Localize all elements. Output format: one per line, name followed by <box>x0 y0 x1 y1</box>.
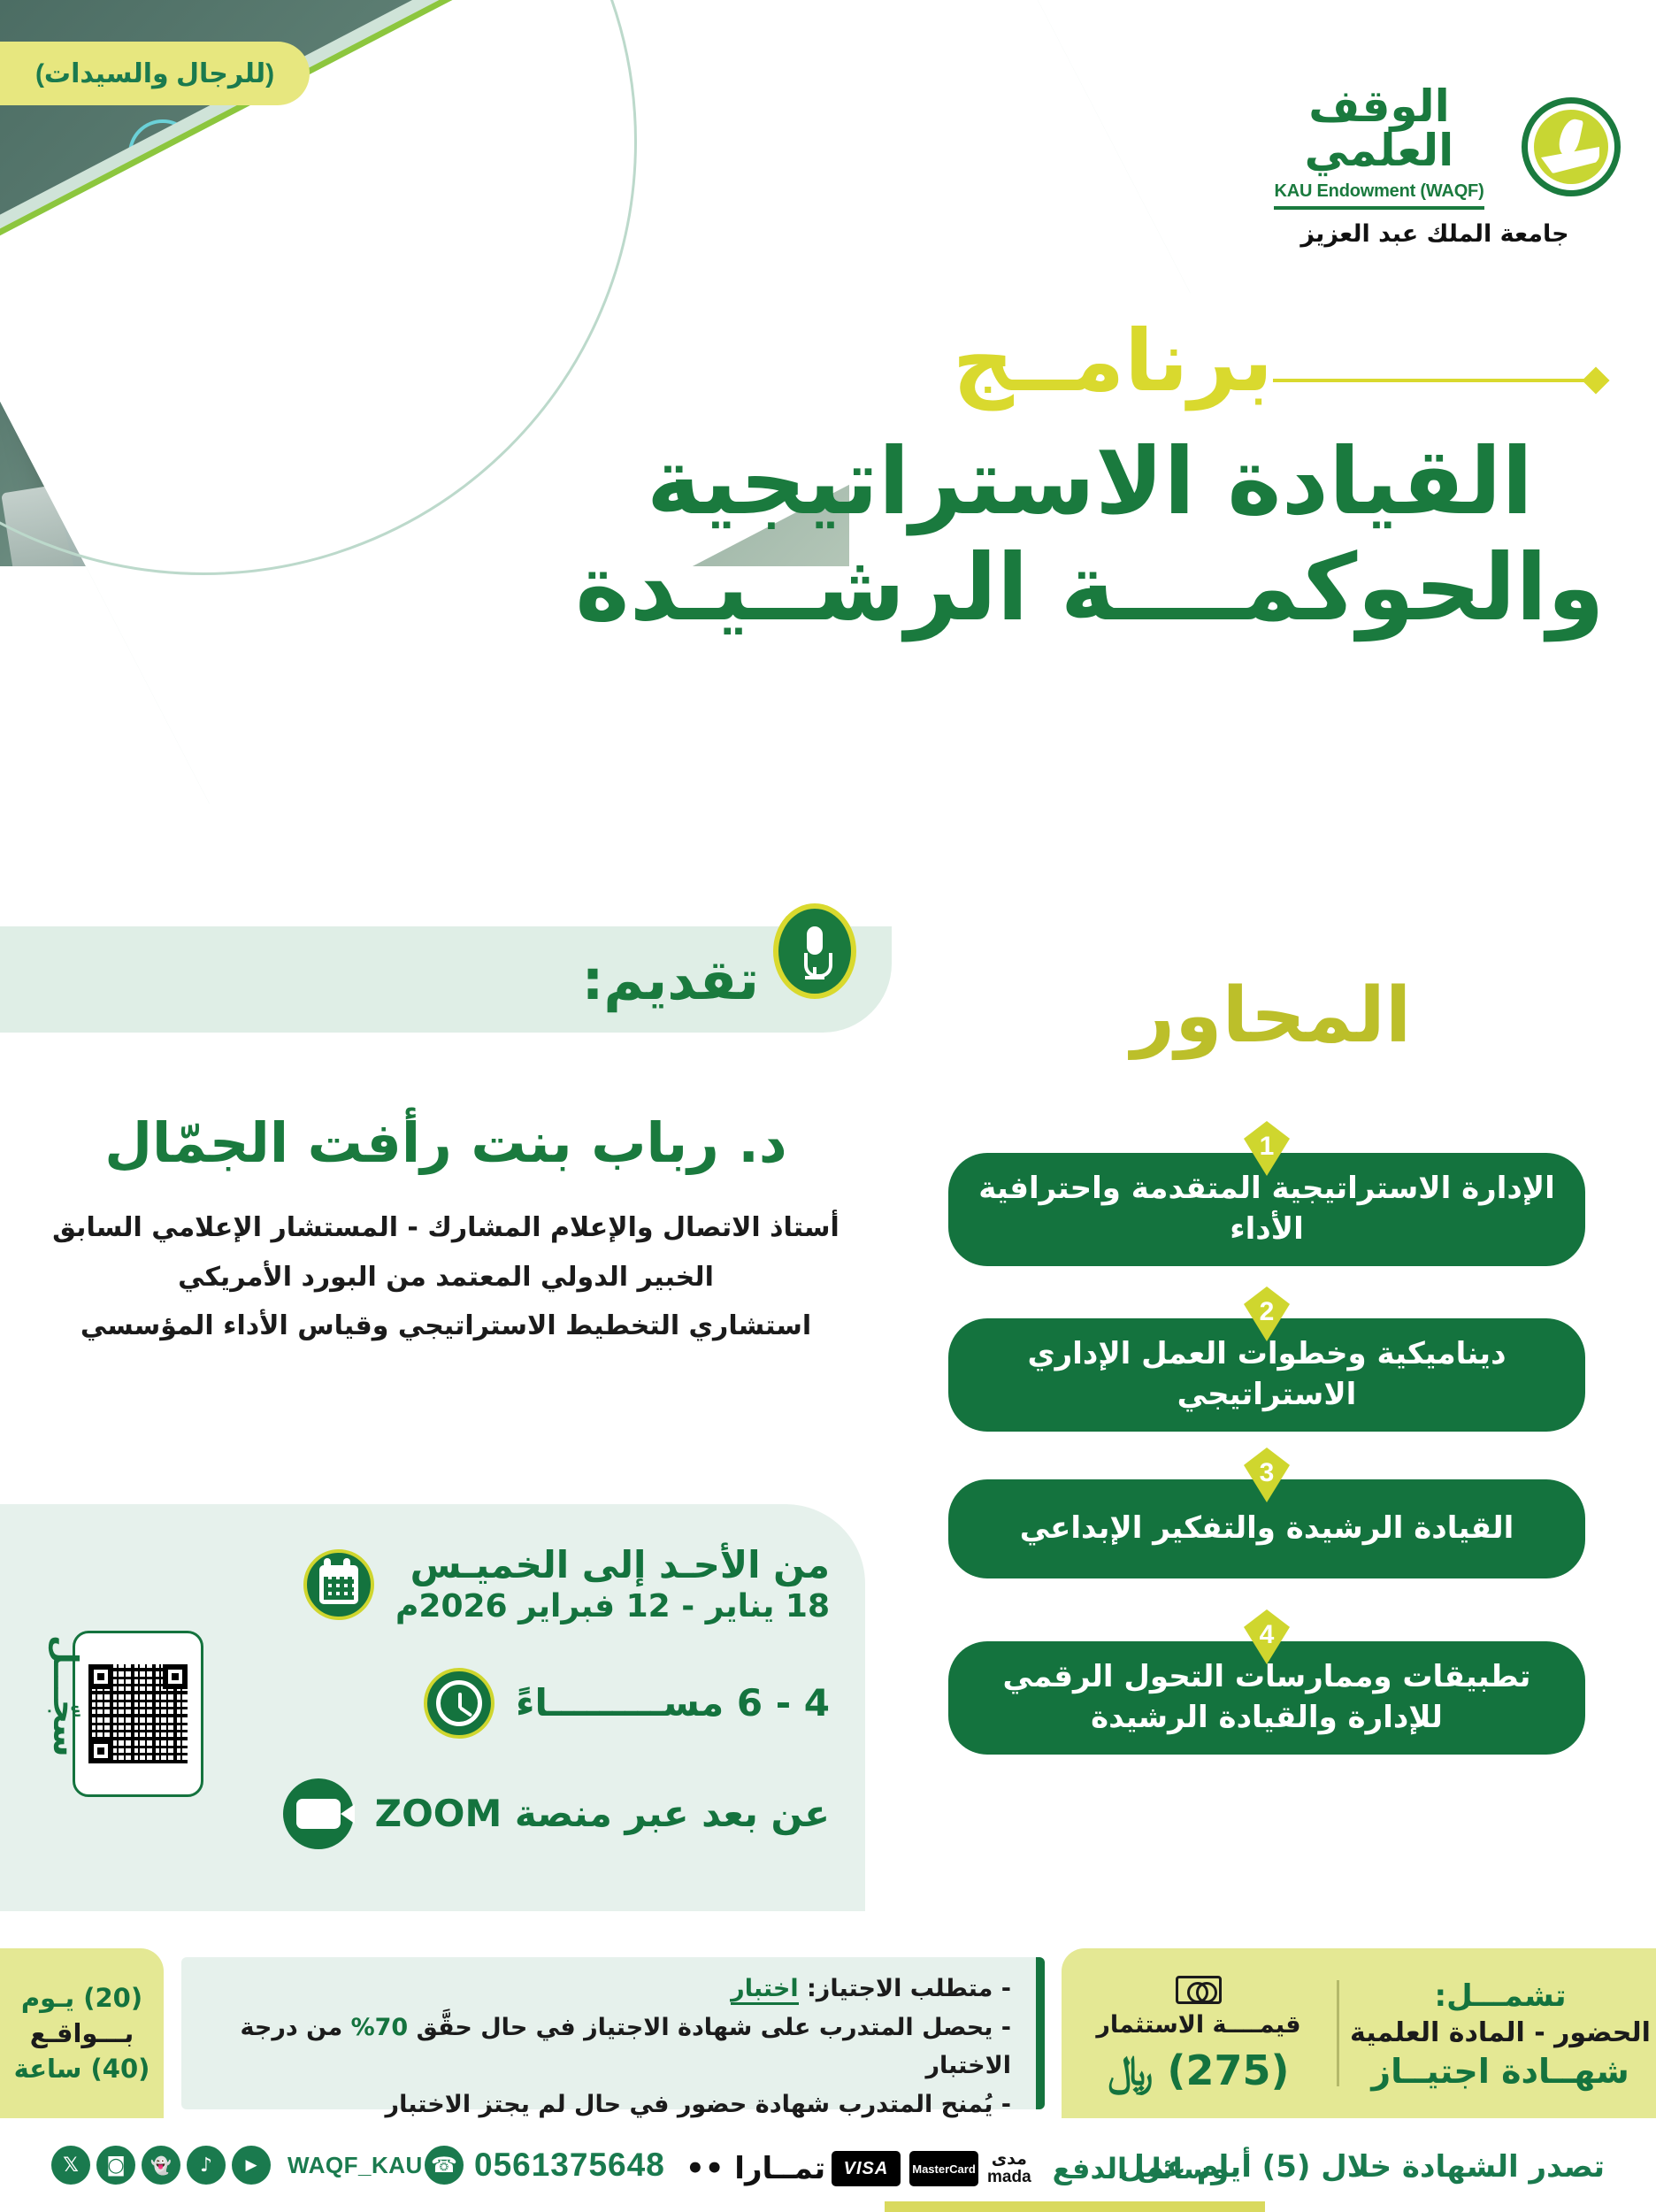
topic-number-badge-2: 2 <box>1244 1286 1290 1341</box>
event-time-text: 4 - 6 مســـــــــاءً <box>516 1681 830 1725</box>
includes-block: تشمـــل: الحضور - المادة العلمية شهــادة… <box>1345 1977 1656 2091</box>
investment-label: قيمــــة الاستثمار <box>1066 2009 1331 2040</box>
mada-arabic: مدى <box>987 2151 1031 2169</box>
visa-icon: VISA <box>832 2151 901 2186</box>
kau-waqf-logo: الوقف العلمي KAU Endowment (WAQF) جامعة … <box>1249 84 1621 248</box>
presenter-credential-1: أستاذ الاتصال والإعلام المشارك - المستشا… <box>0 1203 892 1253</box>
duration-connector: بـــواقـع <box>30 2018 134 2048</box>
exam-requirement-line-3: - يُمنح المتدرب شهادة حضور في حال لم يجت… <box>197 2085 1011 2124</box>
event-location-text: عن بعد عبر منصة ZOOM <box>375 1792 830 1836</box>
event-date-line-2: 18 يناير - 12 فبراير 2026م <box>395 1587 830 1626</box>
page-title-line-1: القيادة الاستراتيجية <box>559 429 1621 535</box>
includes-line: الحضور - المادة العلمية <box>1345 2017 1656 2048</box>
tiktok-glyph: ♪ <box>200 2154 212 2177</box>
mastercard-icon: MasterCard <box>909 2151 978 2186</box>
microphone-icon <box>773 903 856 999</box>
tiktok-icon[interactable]: ♪ <box>187 2146 226 2185</box>
page-title-line-2: والحوكمــــة الرشــيـدة <box>559 535 1621 641</box>
kicker-label: برنامــج <box>953 319 1273 403</box>
footer: 𝕏 ◙ 👻 ♪ ▶ WAQF_KAU ☎ 0561375648 <box>0 2128 1656 2212</box>
qr-register-label: سجّـــل <box>46 1635 85 1757</box>
tamara-logo: تمــارا •• <box>686 2151 825 2186</box>
video-camera-icon <box>283 1778 354 1849</box>
waqf-leaf-icon <box>1522 97 1621 196</box>
youtube-glyph: ▶ <box>245 2156 257 2174</box>
topic-card-4: 4 تطبيقات وممارسات التحول الرقمي للإدارة… <box>948 1641 1585 1755</box>
gender-badge: (للرجال والسيدات) <box>0 42 310 105</box>
topic-number-badge-1: 1 <box>1244 1121 1290 1176</box>
presenter-credentials: أستاذ الاتصال والإعلام المشارك - المستشا… <box>0 1203 892 1351</box>
whatsapp-contact[interactable]: ☎ 0561375648 <box>425 2146 665 2185</box>
exam-req-highlight: اختبار <box>731 1975 798 2005</box>
certificate-issue-note: تصدر الشهادة خلال (5) أيام عمل <box>1119 2149 1605 2185</box>
exam-requirement-line-1: - متطلب الاجتياز: اختبار <box>197 1970 1011 2008</box>
instagram-icon[interactable]: ◙ <box>96 2146 135 2185</box>
event-location-label: عن بعد عبر منصة ZOOM <box>375 1792 830 1836</box>
duration-badge: (20) يـوم بـــواقـع (40) ساعة <box>0 1948 164 2118</box>
page-title: القيادة الاستراتيجية والحوكمــــة الرشــ… <box>559 429 1621 641</box>
social-links: 𝕏 ◙ 👻 ♪ ▶ WAQF_KAU <box>51 2146 423 2185</box>
topics-heading: المحاور <box>935 972 1607 1060</box>
topic-card-2: 2 ديناميكية وخطوات العمل الإداري الاسترا… <box>948 1318 1585 1432</box>
video-camera-glyph <box>296 1799 341 1829</box>
waqf-leaf-inner <box>1534 110 1608 184</box>
logo-english-name: KAU Endowment (WAQF) <box>1274 181 1483 210</box>
exam-pass-percent: 70% <box>351 2014 409 2041</box>
instagram-glyph: ◙ <box>106 2154 125 2177</box>
logo-university-name: جامعة الملك عبد العزيز <box>1249 220 1621 248</box>
presenter-credential-3: استشاري التخطيط الاستراتيجي وقياس الأداء… <box>0 1302 892 1351</box>
kicker-rule <box>1273 379 1591 382</box>
topic-label-2: ديناميكية وخطوات العمل الإداري الاستراتي… <box>971 1334 1562 1416</box>
logo-arabic-name: الوقف العلمي <box>1249 84 1509 178</box>
topic-card-3: 3 القيادة الرشيدة والتفكير الإبداعي <box>948 1479 1585 1578</box>
event-date-text: من الأحـد إلى الخميـس 18 يناير - 12 فبرا… <box>395 1543 830 1625</box>
presenter-band: تقديم: <box>0 926 892 1033</box>
event-location-row: عن بعد عبر منصة ZOOM <box>283 1778 830 1849</box>
whatsapp-icon[interactable]: ☎ <box>425 2146 464 2185</box>
topic-label-1: الإدارة الاستراتيجية المتقدمة واحترافية … <box>971 1169 1562 1250</box>
event-time-row: 4 - 6 مســـــــــاءً <box>424 1668 830 1739</box>
microphone-glyph <box>801 926 828 976</box>
poster: 👥 ◎ ▦ ✓ (للرجال والسيدات) الوقف العلمي K… <box>0 0 1656 2212</box>
snapchat-icon[interactable]: 👻 <box>142 2146 180 2185</box>
topic-label-3: القيادة الرشيدة والتفكير الإبداعي <box>1020 1509 1514 1549</box>
qr-code-image <box>88 1664 188 1763</box>
whatsapp-glyph: ☎ <box>431 2153 457 2177</box>
mada-english: mada <box>987 2169 1031 2186</box>
presenter-label: تقديم: <box>582 948 759 1012</box>
x-twitter-glyph: 𝕏 <box>63 2154 79 2177</box>
topic-number-badge-4: 4 <box>1244 1609 1290 1664</box>
exam-pass-a: - يحصل المتدرب على شهادة الاجتياز في حال… <box>408 2014 1011 2041</box>
youtube-icon[interactable]: ▶ <box>232 2146 271 2185</box>
presenter-name: د. رباب بنت رأفت الجمّال <box>0 1110 892 1175</box>
duration-hours: (40) ساعة <box>14 2054 150 2084</box>
exam-requirements-box: - متطلب الاجتياز: اختبار - يحصل المتدرب … <box>181 1957 1045 2109</box>
exam-requirement-line-2: - يحصل المتدرب على شهادة الاجتياز في حال… <box>197 2008 1011 2085</box>
footer-accent-bar <box>885 2201 1265 2212</box>
microphone-base <box>805 976 824 979</box>
exam-req-prefix: - متطلب الاجتياز: <box>799 1975 1011 2002</box>
calendar-grid <box>324 1577 354 1600</box>
microphone-stem <box>813 967 816 978</box>
calendar-icon <box>303 1549 374 1620</box>
investment-amount: (275) ﷼ <box>1066 2047 1331 2096</box>
gender-badge-label: (للرجال والسيدات) <box>35 58 274 89</box>
qr-eye-top-right <box>163 1664 188 1689</box>
banknote-icon <box>1176 1976 1222 2004</box>
clock-icon <box>424 1668 494 1739</box>
duration-days: (20) يـوم <box>21 1983 142 2013</box>
mada-icon: مدى mada <box>987 2151 1031 2186</box>
logo-text-block: الوقف العلمي KAU Endowment (WAQF) <box>1249 84 1509 210</box>
snapchat-glyph: 👻 <box>150 2155 172 2176</box>
social-handle: WAQF_KAU <box>287 2152 423 2179</box>
program-kicker: برنامــج <box>546 319 1607 403</box>
event-date-row: من الأحـد إلى الخميـس 18 يناير - 12 فبرا… <box>303 1543 830 1625</box>
whatsapp-number: 0561375648 <box>474 2147 665 2184</box>
qr-eye-top-left <box>88 1664 113 1689</box>
investment-divider <box>1337 1980 1339 2086</box>
footer-inner: 𝕏 ◙ 👻 ♪ ▶ WAQF_KAU ☎ 0561375648 <box>0 2128 1656 2212</box>
event-date-line-1: من الأحـد إلى الخميـس <box>395 1543 830 1587</box>
investment-box: تشمـــل: الحضور - المادة العلمية شهــادة… <box>1062 1948 1656 2118</box>
clock-glyph <box>436 1680 482 1726</box>
includes-certificate: شهــادة اجتيــاز <box>1345 2052 1656 2091</box>
topic-card-1: 1 الإدارة الاستراتيجية المتقدمة واحترافي… <box>948 1153 1585 1266</box>
investment-block: قيمــــة الاستثمار (275) ﷼ <box>1066 1970 1331 2095</box>
presenter-credential-2: الخبير الدولي المعتمد من البورد الأمريكي <box>0 1253 892 1302</box>
qr-code-icon[interactable] <box>73 1631 203 1797</box>
topic-label-4: تطبيقات وممارسات التحول الرقمي للإدارة و… <box>971 1657 1562 1739</box>
logo-row: الوقف العلمي KAU Endowment (WAQF) <box>1249 84 1621 210</box>
calendar-glyph <box>319 1565 358 1604</box>
topic-number-badge-3: 3 <box>1244 1448 1290 1502</box>
event-time-label: 4 - 6 مســـــــــاءً <box>516 1681 830 1725</box>
bottom-strip: (20) يـوم بـــواقـع (40) ساعة - متطلب ال… <box>0 1938 1656 2128</box>
qr-eye-bottom-left <box>88 1739 113 1763</box>
includes-title: تشمـــل: <box>1345 1978 1656 2014</box>
x-twitter-icon[interactable]: 𝕏 <box>51 2146 90 2185</box>
